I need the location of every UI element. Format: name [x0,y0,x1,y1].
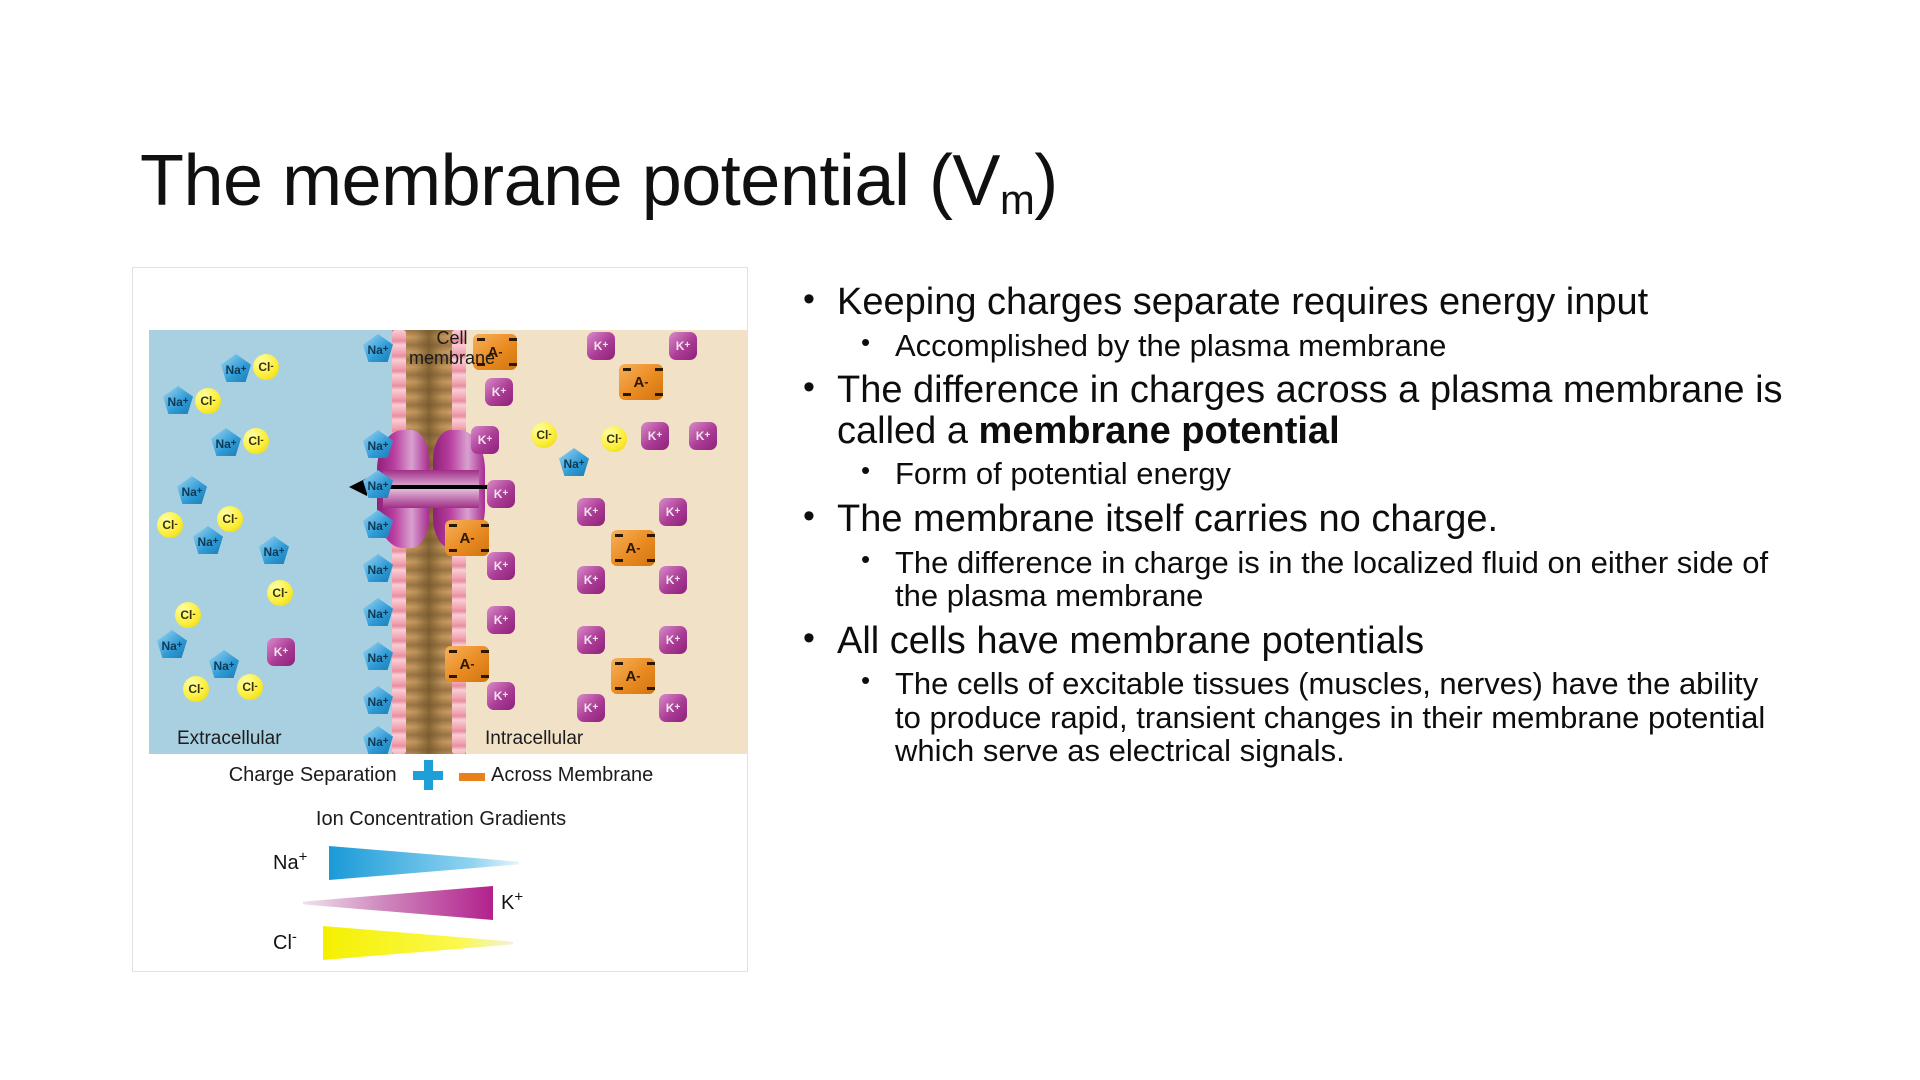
ion-anion: A- [619,364,663,400]
bullet-item: All cells have membrane potentials [795,621,1785,662]
page-title: The membrane potential (Vm) [140,144,1058,220]
gradient-label-sodium: Na+ [273,852,307,875]
bullet-item: The membrane itself carries no charge. [795,499,1785,540]
ion-potassium: K+ [659,566,687,594]
minus-sign-icon [459,773,485,781]
ion-potassium: K+ [659,498,687,526]
ion-potassium: K+ [471,426,499,454]
ion-gradient-chart: Na+ K+ Cl- [273,846,613,966]
across-membrane-label: Across Membrane [491,764,653,786]
ion-potassium: K+ [487,552,515,580]
ion-potassium: K+ [267,638,295,666]
gradient-triangle-sodium [329,846,519,880]
bullet-item: Accomplished by the plasma membrane [795,329,1785,362]
cell-membrane-label: Cell membrane [377,330,527,368]
ion-potassium: K+ [659,626,687,654]
title-main-text: The membrane potential (V [140,141,1000,221]
charge-separation-legend: Charge Separation Across Membrane [133,760,748,790]
gradient-row-chloride: Cl- [273,926,613,962]
ion-chloride: Cl- [157,512,183,538]
ion-chloride: Cl- [195,388,221,414]
gradient-label-potassium: K+ [501,892,523,915]
ion-anion: A- [611,530,655,566]
gradient-label-chloride: Cl- [273,932,297,955]
intracellular-label: Intracellular [485,728,583,750]
membrane-diagram-figure: Na+ Cl- Na+ Cl- Na+ Cl- Na+ Cl- Cl- Na+ … [132,267,748,972]
ion-potassium: K+ [577,498,605,526]
ion-potassium: K+ [587,332,615,360]
cell-membrane-label-line2: membrane [377,348,527,368]
bullet-item: The difference in charges across a plasm… [795,370,1785,451]
ion-anion: A- [611,658,655,694]
ion-chloride: Cl- [267,580,293,606]
ion-chloride: Cl- [237,674,263,700]
bullet-item: The difference in charge is in the local… [795,546,1785,613]
bullet-item: Form of potential energy [795,457,1785,490]
ion-chloride: Cl- [217,506,243,532]
ion-chloride: Cl- [253,354,279,380]
gradient-triangle-potassium [303,886,493,920]
extracellular-label: Extracellular [177,728,282,750]
bullet-item: The cells of excitable tissues (muscles,… [795,667,1785,767]
slide-content-body: Keeping charges separate requires energy… [795,282,1785,776]
ion-potassium: K+ [669,332,697,360]
ion-chloride: Cl- [601,426,627,452]
ion-potassium: K+ [659,694,687,722]
gradient-row-potassium: K+ [273,886,613,922]
ion-potassium: K+ [577,626,605,654]
charge-separation-label: Charge Separation [229,764,397,787]
ion-potassium: K+ [689,422,717,450]
legend-minus-group: Across Membrane [459,764,654,787]
ion-potassium: K+ [641,422,669,450]
ion-chloride: Cl- [531,422,557,448]
cell-membrane-label-line1: Cell [377,330,527,348]
ion-potassium: K+ [485,378,513,406]
ion-potassium: K+ [577,566,605,594]
bullet-item: Keeping charges separate requires energy… [795,282,1785,323]
bullet-text-bold: membrane potential [979,410,1340,452]
title-end-text: ) [1034,141,1057,221]
ion-potassium: K+ [487,682,515,710]
ion-anion: A- [445,520,489,556]
ion-chloride: Cl- [243,428,269,454]
ion-potassium: K+ [487,480,515,508]
ion-anion: A- [445,646,489,682]
gradient-row-sodium: Na+ [273,846,613,882]
ion-potassium: K+ [487,606,515,634]
plus-sign-icon [413,760,443,790]
ion-chloride: Cl- [183,676,209,702]
ion-potassium: K+ [577,694,605,722]
ion-concentration-gradients-title: Ion Concentration Gradients [133,808,748,831]
title-subscript: m [1000,176,1034,223]
gradient-triangle-chloride [323,926,513,960]
membrane-scene: Na+ Cl- Na+ Cl- Na+ Cl- Na+ Cl- Cl- Na+ … [149,330,748,754]
ion-chloride: Cl- [175,602,201,628]
